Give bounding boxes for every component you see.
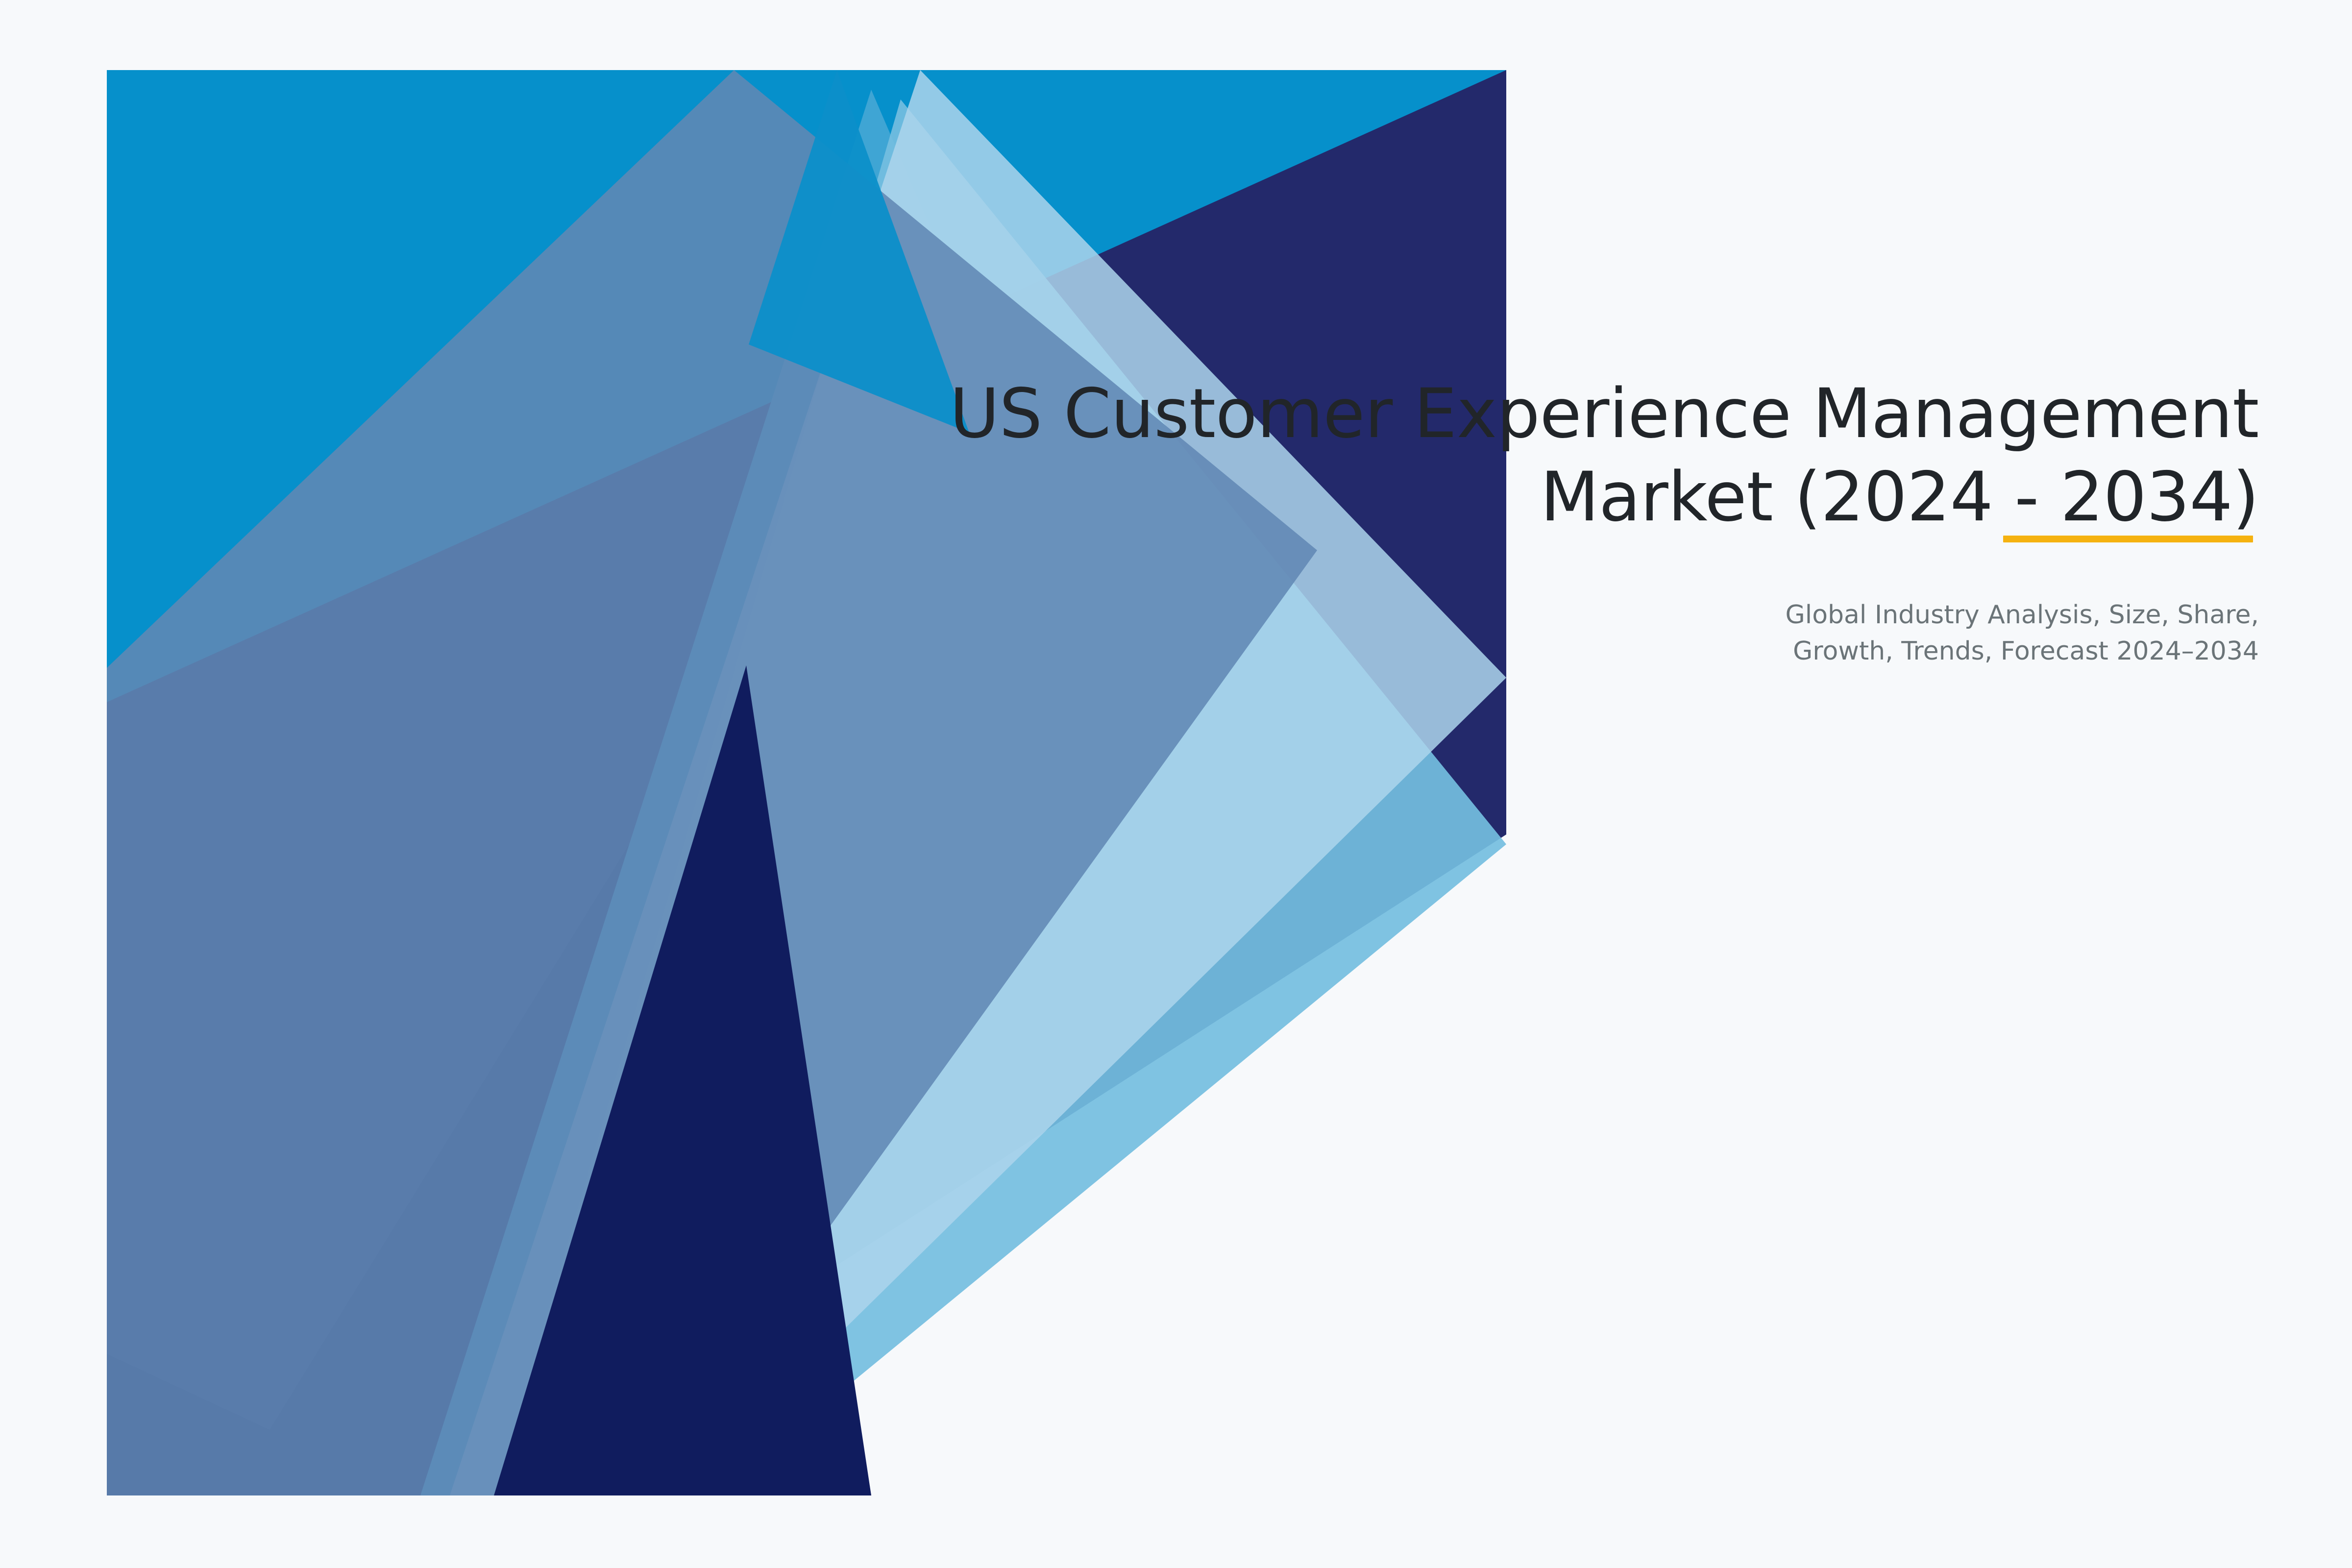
artwork-svg <box>107 70 1506 1495</box>
cover-text-block: US Customer Experience Management Market… <box>735 372 2259 670</box>
subtitle-line-1: Global Industry Analysis, Size, Share, <box>735 597 2259 634</box>
page-subtitle: Global Industry Analysis, Size, Share, G… <box>735 597 2259 670</box>
page-title: US Customer Experience Management Market… <box>735 372 2259 539</box>
cover-page: US Customer Experience Management Market… <box>0 0 2352 1568</box>
abstract-artwork-panel <box>107 70 1506 1495</box>
title-line-1: US Customer Experience Management <box>735 372 2259 456</box>
subtitle-line-2: Growth, Trends, Forecast 2024–2034 <box>735 634 2259 670</box>
title-line-2: Market (2024 - 2034) <box>735 456 2259 539</box>
